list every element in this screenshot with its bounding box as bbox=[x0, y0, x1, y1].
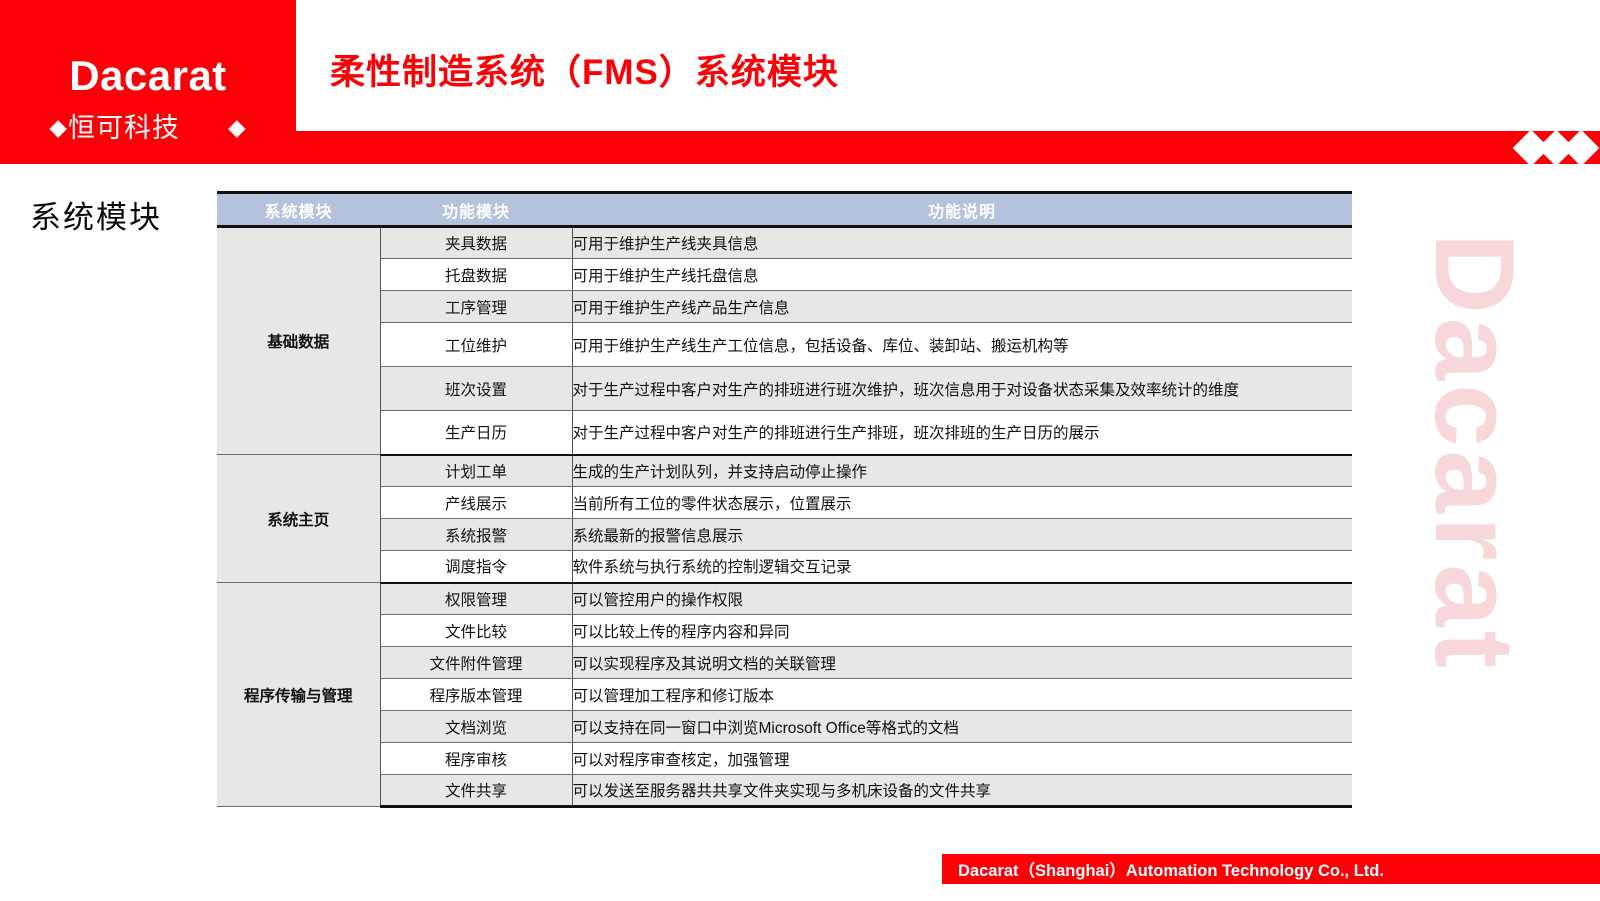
feature-cell: 文件共享 bbox=[380, 775, 572, 807]
feature-cell: 产线展示 bbox=[380, 487, 572, 519]
group-label-cell: 程序传输与管理 bbox=[217, 583, 380, 807]
group-label-cell: 系统主页 bbox=[217, 455, 380, 583]
column-header-function-desc: 功能说明 bbox=[572, 193, 1352, 227]
slide-canvas: Dacarat ◆恒可科技◆ 柔性制造系统（FMS）系统模块 系统模块 Daca… bbox=[0, 0, 1600, 901]
diamond-icon bbox=[1563, 129, 1600, 166]
table-row: 班次设置 对于生产过程中客户对生产的排班进行班次维护，班次信息用于对设备状态采集… bbox=[217, 367, 1352, 411]
feature-cell: 权限管理 bbox=[380, 583, 572, 615]
column-header-function-module: 功能模块 bbox=[380, 193, 572, 227]
feature-cell: 班次设置 bbox=[380, 367, 572, 411]
description-cell: 可以管理加工程序和修订版本 bbox=[572, 679, 1352, 711]
table-body: 基础数据 夹具数据 可用于维护生产线夹具信息 托盘数据 可用于维护生产线托盘信息… bbox=[217, 227, 1352, 807]
brand-logo-block: Dacarat ◆恒可科技◆ bbox=[0, 0, 296, 164]
feature-cell: 程序版本管理 bbox=[380, 679, 572, 711]
feature-cell: 系统报警 bbox=[380, 519, 572, 551]
feature-cell: 工位维护 bbox=[380, 323, 572, 367]
table-header-row: 系统模块 功能模块 功能说明 bbox=[217, 193, 1352, 227]
feature-cell: 夹具数据 bbox=[380, 227, 572, 259]
table-row: 程序审核 可以对程序审查核定，加强管理 bbox=[217, 743, 1352, 775]
feature-cell: 文档浏览 bbox=[380, 711, 572, 743]
feature-cell: 计划工单 bbox=[380, 455, 572, 487]
modules-table-container: 系统模块 功能模块 功能说明 基础数据 夹具数据 可用于维护生产线夹具信息 托盘… bbox=[217, 191, 1352, 808]
table-row: 系统报警 系统最新的报警信息展示 bbox=[217, 519, 1352, 551]
brand-watermark: Dacarat bbox=[1410, 233, 1539, 672]
description-cell: 可用于维护生产线生产工位信息，包括设备、库位、装卸站、搬运机构等 bbox=[572, 323, 1352, 367]
group-label-cell: 基础数据 bbox=[217, 227, 380, 455]
description-cell: 可以发送至服务器共共享文件夹实现与多机床设备的文件共享 bbox=[572, 775, 1352, 807]
table-row: 文档浏览 可以支持在同一窗口中浏览Microsoft Office等格式的文档 bbox=[217, 711, 1352, 743]
description-cell: 可以对程序审查核定，加强管理 bbox=[572, 743, 1352, 775]
table-row: 调度指令 软件系统与执行系统的控制逻辑交互记录 bbox=[217, 551, 1352, 583]
table-row: 程序版本管理 可以管理加工程序和修订版本 bbox=[217, 679, 1352, 711]
description-cell: 可用于维护生产线托盘信息 bbox=[572, 259, 1352, 291]
feature-cell: 托盘数据 bbox=[380, 259, 572, 291]
table-row: 生产日历 对于生产过程中客户对生产的排班进行生产排班，班次排班的生产日历的展示 bbox=[217, 411, 1352, 455]
table-row: 工位维护 可用于维护生产线生产工位信息，包括设备、库位、装卸站、搬运机构等 bbox=[217, 323, 1352, 367]
description-cell: 可以支持在同一窗口中浏览Microsoft Office等格式的文档 bbox=[572, 711, 1352, 743]
feature-cell: 文件附件管理 bbox=[380, 647, 572, 679]
description-cell: 可以比较上传的程序内容和异同 bbox=[572, 615, 1352, 647]
table-row: 基础数据 夹具数据 可用于维护生产线夹具信息 bbox=[217, 227, 1352, 259]
description-cell: 生成的生产计划队列，并支持启动停止操作 bbox=[572, 455, 1352, 487]
table-row: 程序传输与管理 权限管理 可以管控用户的操作权限 bbox=[217, 583, 1352, 615]
table-row: 文件共享 可以发送至服务器共共享文件夹实现与多机床设备的文件共享 bbox=[217, 775, 1352, 807]
footer-bar: Dacarat（Shanghai）Automation Technology C… bbox=[942, 854, 1600, 884]
feature-cell: 生产日历 bbox=[380, 411, 572, 455]
feature-cell: 程序审核 bbox=[380, 743, 572, 775]
description-cell: 可用于维护生产线夹具信息 bbox=[572, 227, 1352, 259]
description-cell: 当前所有工位的零件状态展示，位置展示 bbox=[572, 487, 1352, 519]
feature-cell: 工序管理 bbox=[380, 291, 572, 323]
diamond-icon: ◆ bbox=[228, 114, 247, 140]
description-cell: 系统最新的报警信息展示 bbox=[572, 519, 1352, 551]
table-row: 文件比较 可以比较上传的程序内容和异同 bbox=[217, 615, 1352, 647]
table-row: 工序管理 可用于维护生产线产品生产信息 bbox=[217, 291, 1352, 323]
modules-table: 系统模块 功能模块 功能说明 基础数据 夹具数据 可用于维护生产线夹具信息 托盘… bbox=[217, 191, 1352, 808]
table-row: 文件附件管理 可以实现程序及其说明文档的关联管理 bbox=[217, 647, 1352, 679]
description-cell: 对于生产过程中客户对生产的排班进行班次维护，班次信息用于对设备状态采集及效率统计… bbox=[572, 367, 1352, 411]
description-cell: 对于生产过程中客户对生产的排班进行生产排班，班次排班的生产日历的展示 bbox=[572, 411, 1352, 455]
description-cell: 可以管控用户的操作权限 bbox=[572, 583, 1352, 615]
section-label: 系统模块 bbox=[30, 192, 162, 237]
diamond-icon: ◆ bbox=[49, 114, 68, 140]
header-diamond-group bbox=[1474, 131, 1594, 164]
column-header-system-module: 系统模块 bbox=[217, 193, 380, 227]
table-row: 系统主页 计划工单 生成的生产计划队列，并支持启动停止操作 bbox=[217, 455, 1352, 487]
table-row: 产线展示 当前所有工位的零件状态展示，位置展示 bbox=[217, 487, 1352, 519]
description-cell: 可用于维护生产线产品生产信息 bbox=[572, 291, 1352, 323]
table-row: 托盘数据 可用于维护生产线托盘信息 bbox=[217, 259, 1352, 291]
description-cell: 软件系统与执行系统的控制逻辑交互记录 bbox=[572, 551, 1352, 583]
brand-subtitle-text: 恒可科技 bbox=[68, 113, 180, 143]
feature-cell: 文件比较 bbox=[380, 615, 572, 647]
brand-name: Dacarat bbox=[0, 52, 296, 100]
brand-subtitle: ◆恒可科技◆ bbox=[0, 106, 296, 145]
description-cell: 可以实现程序及其说明文档的关联管理 bbox=[572, 647, 1352, 679]
footer-company-name: Dacarat（Shanghai）Automation Technology C… bbox=[942, 857, 1384, 881]
page-title: 柔性制造系统（FMS）系统模块 bbox=[330, 44, 1330, 95]
feature-cell: 调度指令 bbox=[380, 551, 572, 583]
